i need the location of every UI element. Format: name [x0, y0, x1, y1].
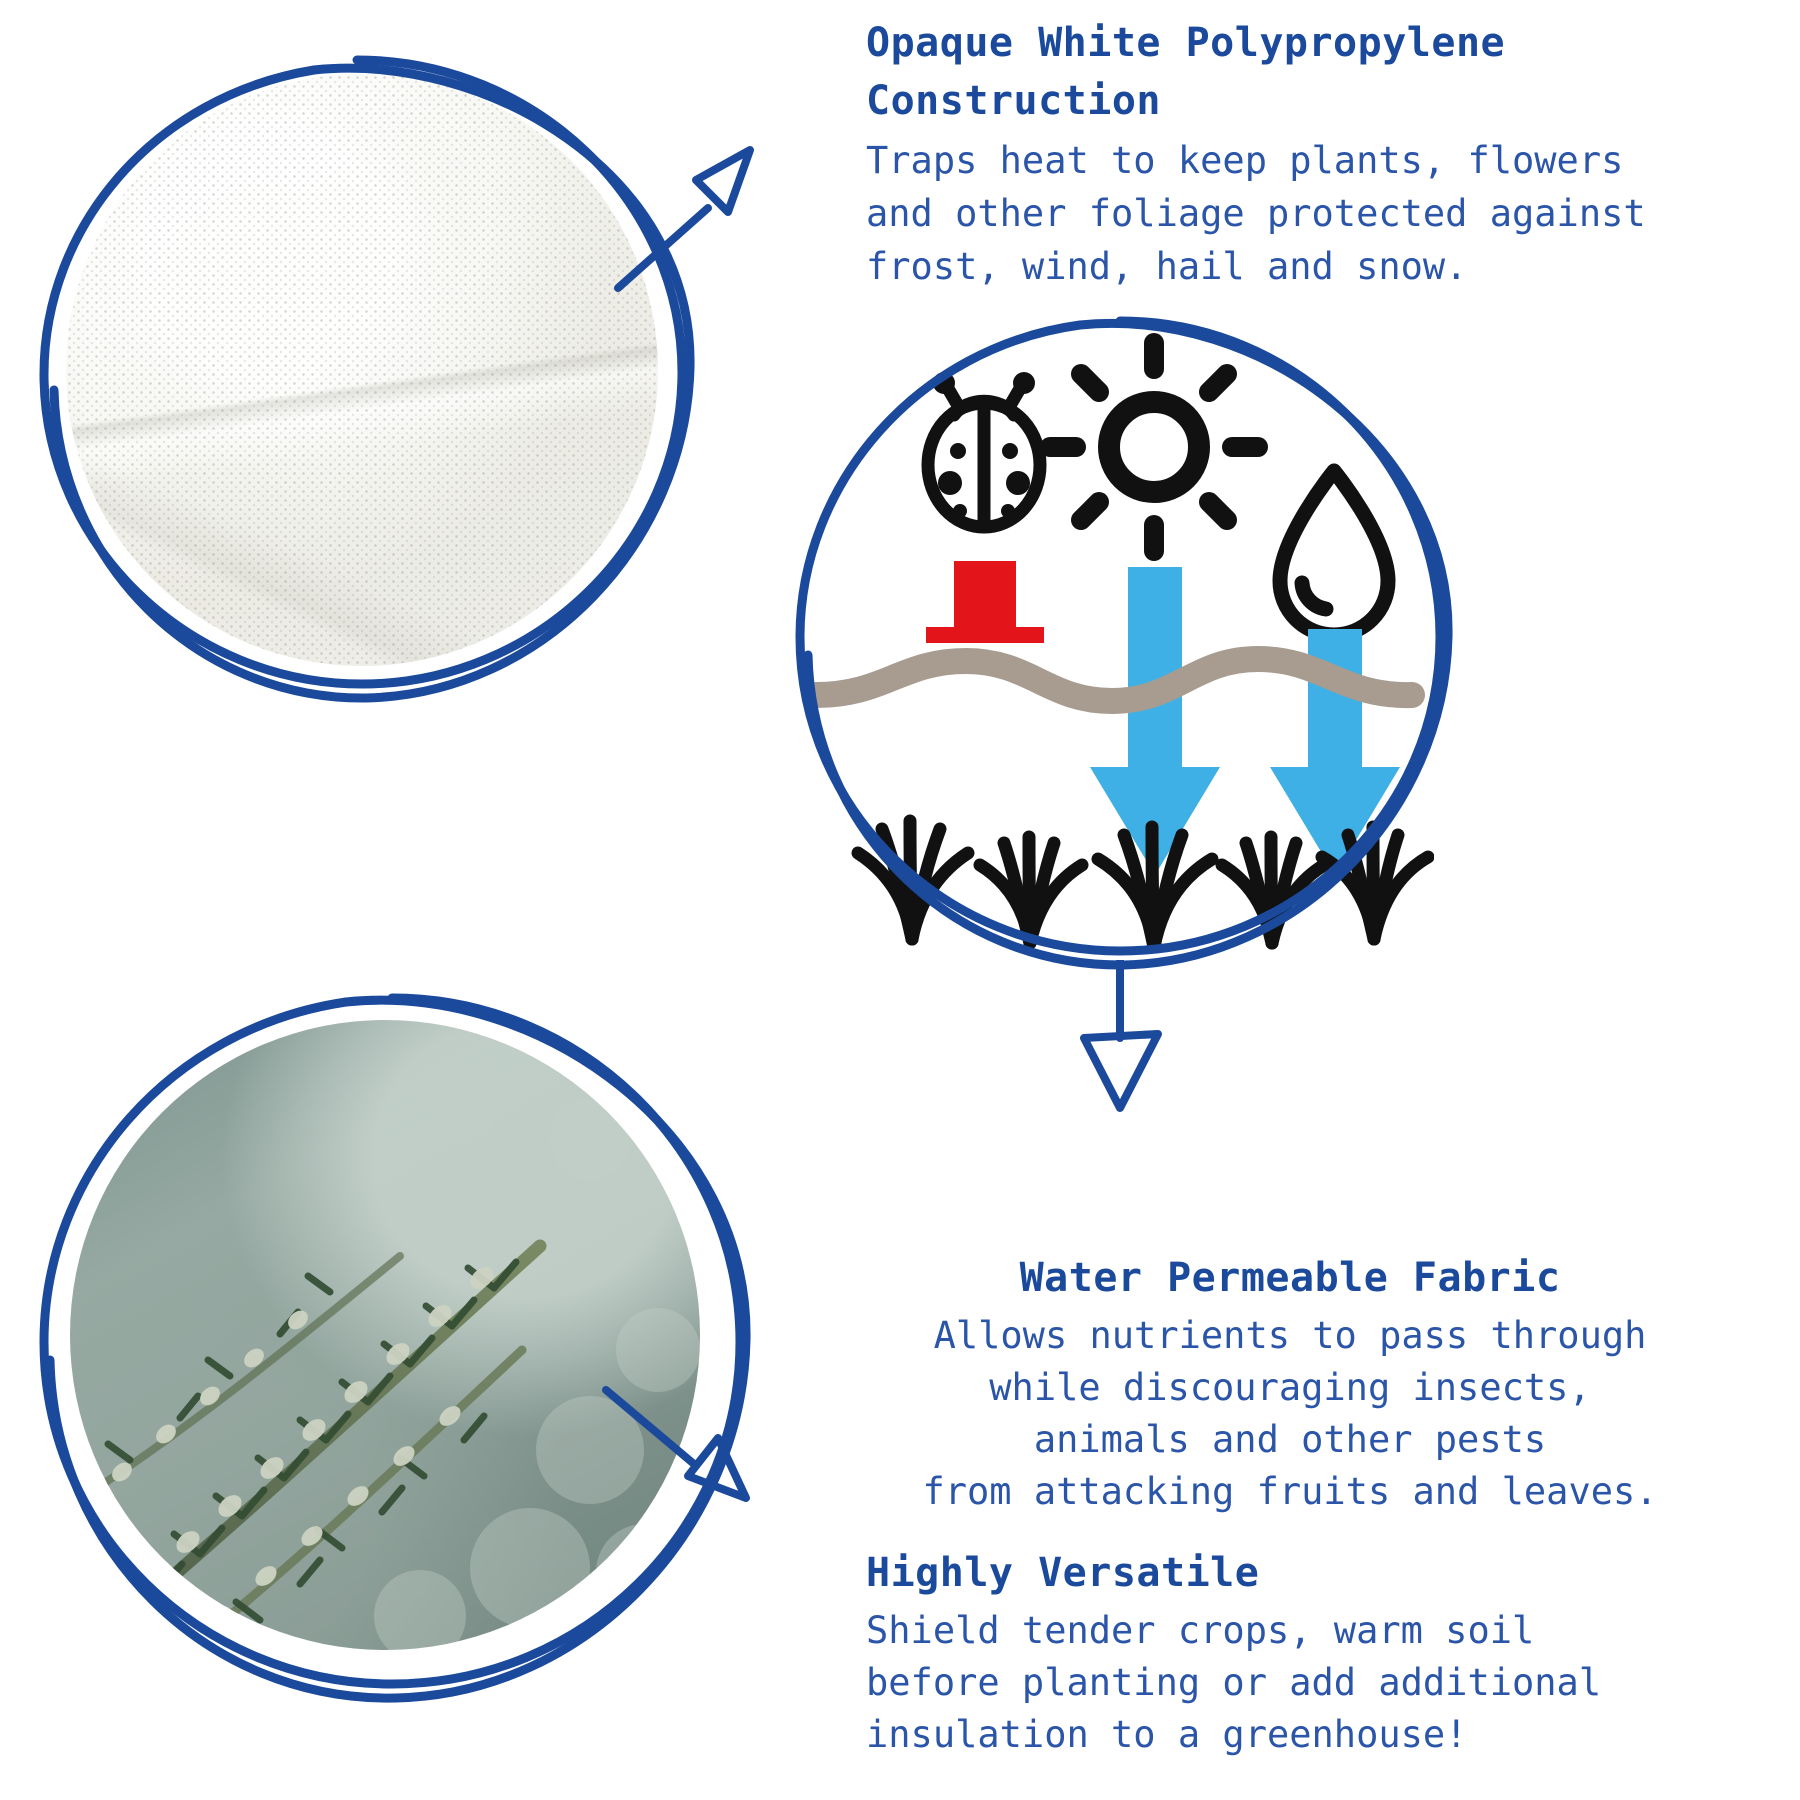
- arrow-to-opaque-feature: [600, 120, 800, 300]
- hand-drawn-circle-frame-heather: [10, 962, 770, 1722]
- arrow-to-water-permeable-feature: [1058, 960, 1188, 1120]
- hand-drawn-circle-frame-icon: [768, 285, 1468, 985]
- feature-body: Shield tender crops, warm soil before pl…: [866, 1605, 1786, 1761]
- arrow-to-versatile-feature: [596, 1380, 796, 1560]
- feature-body: Allows nutrients to pass through while d…: [840, 1310, 1740, 1518]
- icon-circle-group: [768, 285, 1468, 985]
- feature-heading-line1: Highly Versatile: [866, 1545, 1786, 1601]
- feature-heading-line2: Construction: [866, 72, 1786, 130]
- feature-body-line2: while discouraging insects,: [840, 1362, 1740, 1414]
- frosted-heather-photo-group: [10, 962, 770, 1722]
- feature-body-line1: Shield tender crops, warm soil: [866, 1605, 1786, 1657]
- infographic-canvas: Opaque White Polypropylene Construction …: [0, 0, 1800, 1800]
- feature-body: Traps heat to keep plants, flowers and o…: [866, 134, 1786, 293]
- feature-body-line2: and other foliage protected against: [866, 187, 1786, 240]
- feature-body-line1: Allows nutrients to pass through: [840, 1310, 1740, 1362]
- feature-body-line4: from attacking fruits and leaves.: [840, 1466, 1740, 1518]
- feature-body-line3: insulation to a greenhouse!: [866, 1709, 1786, 1761]
- feature-heading-line1: Opaque White Polypropylene: [866, 14, 1786, 72]
- feature-body-line3: animals and other pests: [840, 1414, 1740, 1466]
- feature-opaque-white-polypropylene: Opaque White Polypropylene Construction …: [866, 14, 1786, 293]
- feature-highly-versatile: Highly Versatile Shield tender crops, wa…: [866, 1545, 1786, 1761]
- feature-water-permeable-fabric: Water Permeable Fabric Allows nutrients …: [840, 1250, 1740, 1518]
- feature-body-line2: before planting or add additional: [866, 1657, 1786, 1709]
- feature-heading-line1: Water Permeable Fabric: [840, 1250, 1740, 1306]
- feature-body-line1: Traps heat to keep plants, flowers: [866, 134, 1786, 187]
